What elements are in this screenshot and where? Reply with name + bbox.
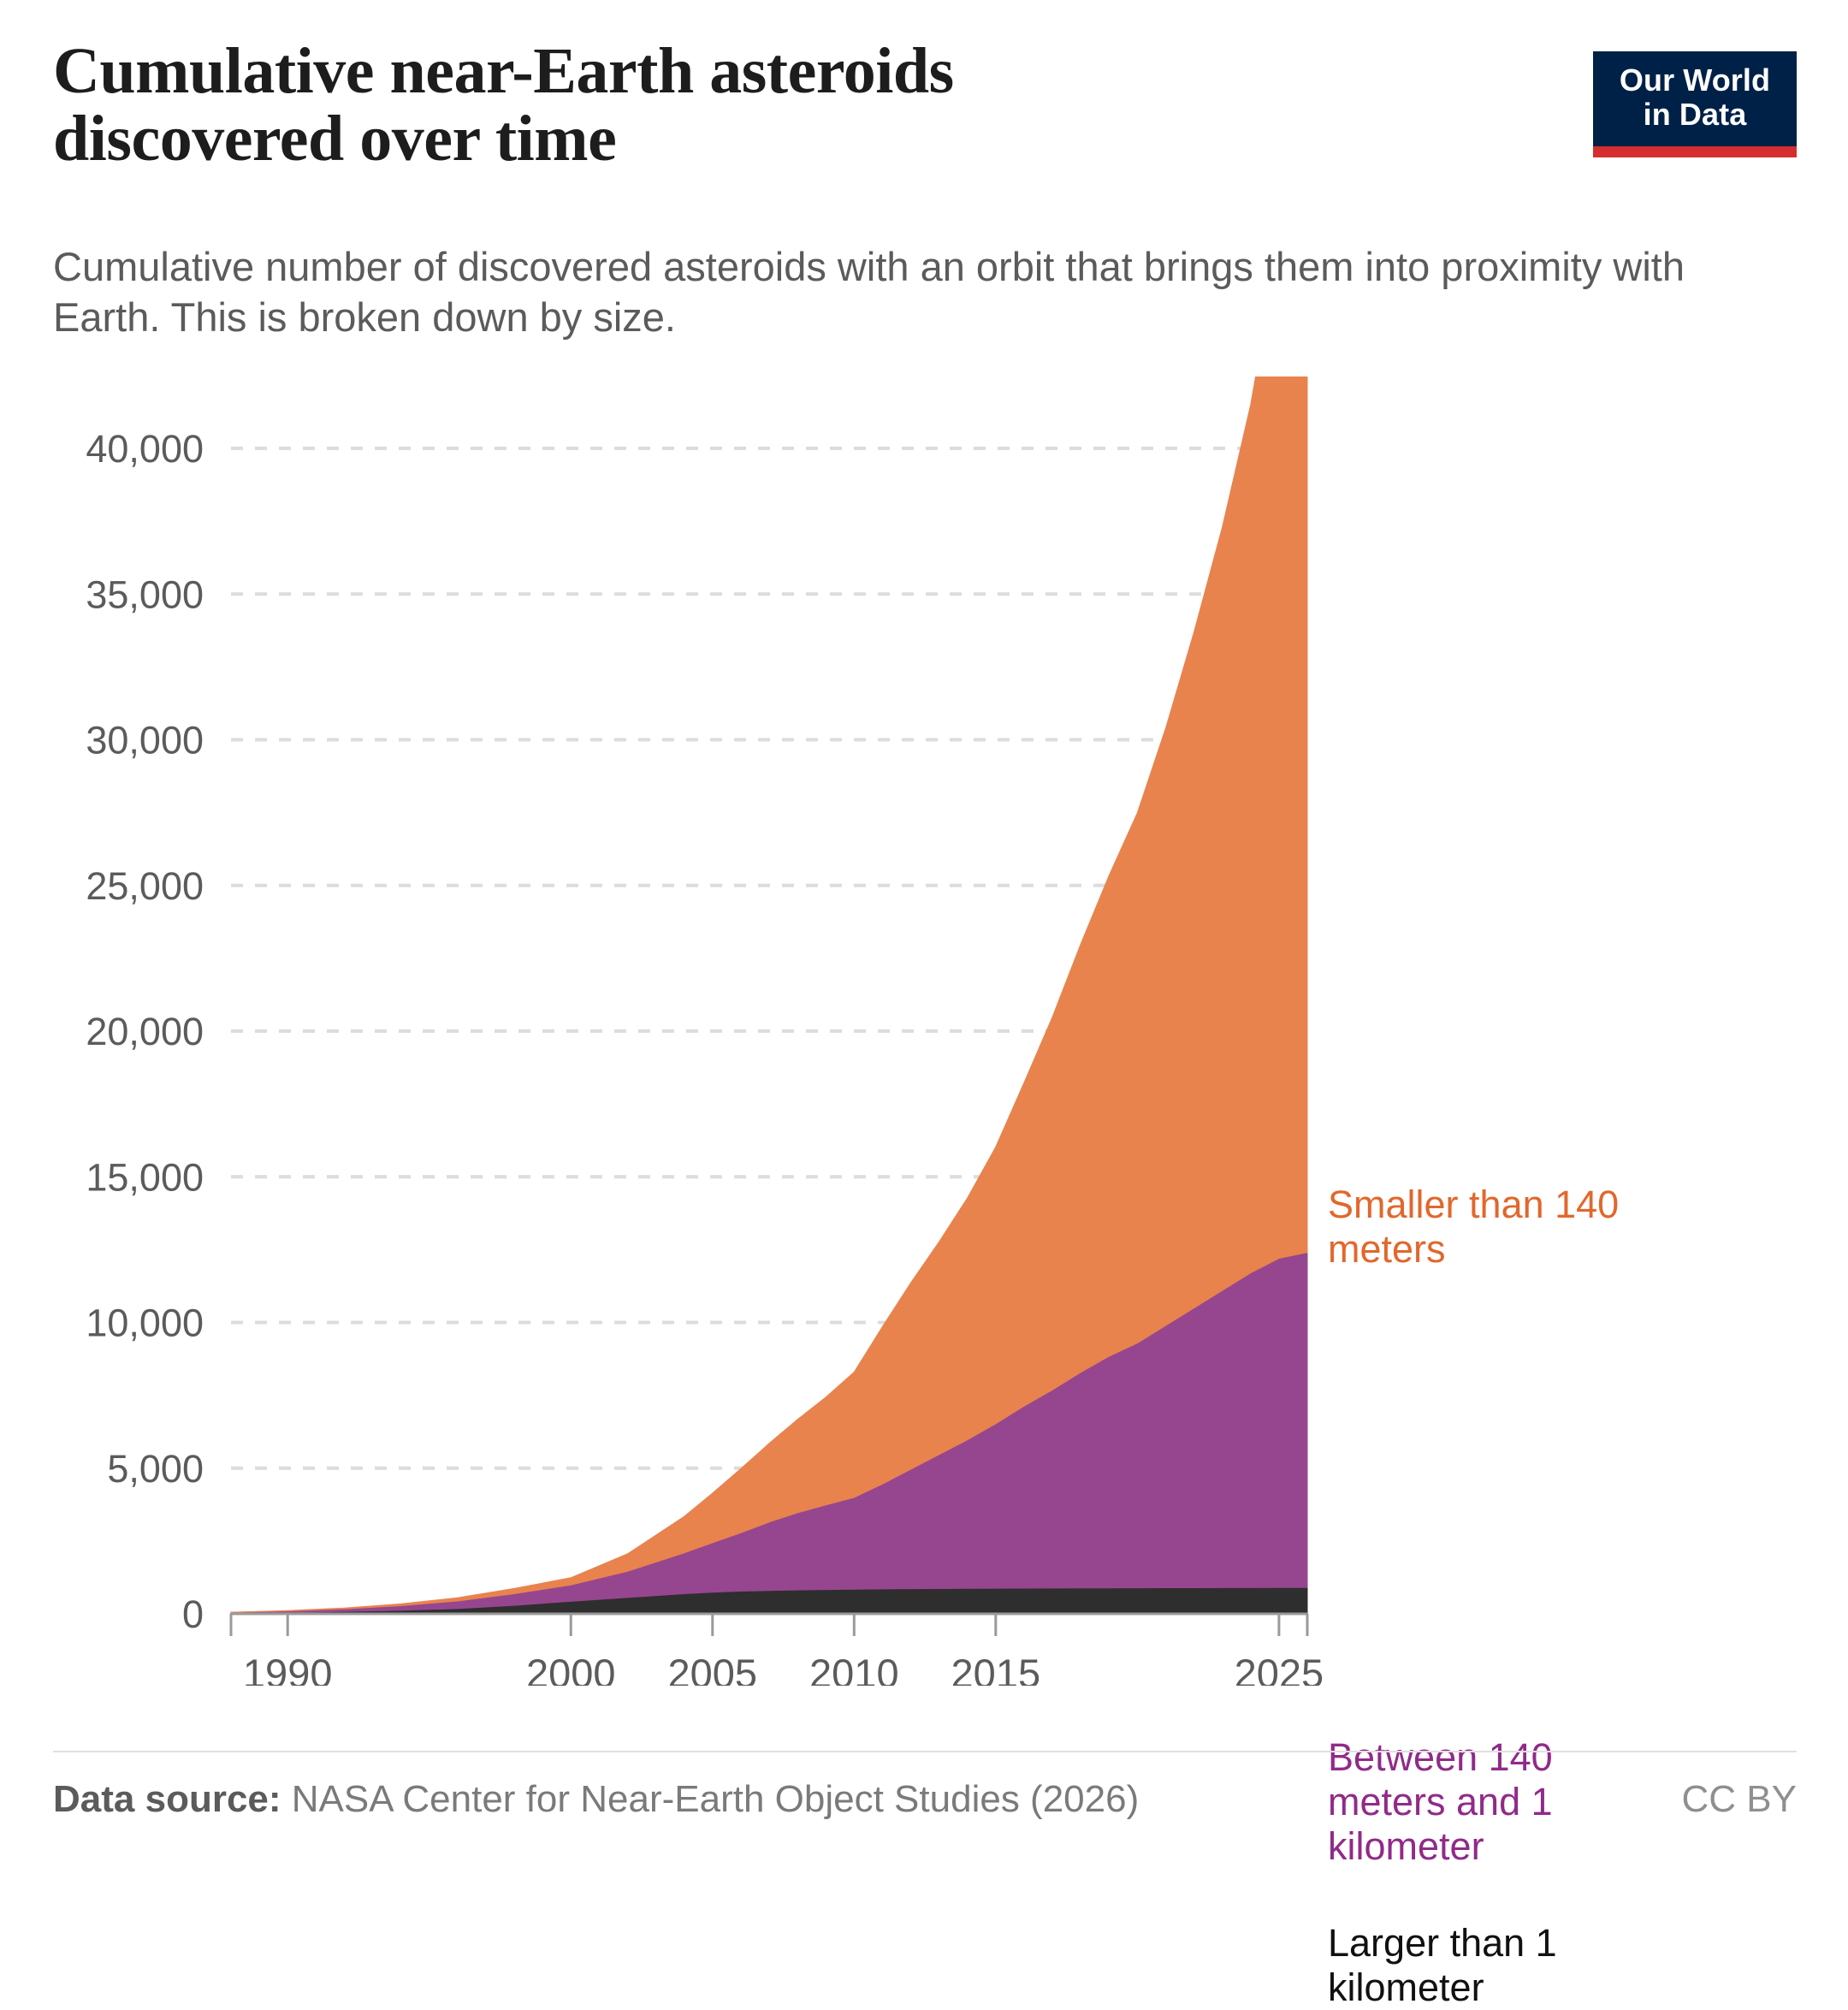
y-tick-label: 0	[182, 1592, 204, 1636]
y-tick-labels: 05,00010,00015,00020,00025,00030,00035,0…	[86, 427, 204, 1636]
y-tick-label: 15,000	[86, 1155, 204, 1199]
x-tick-label: 1990	[243, 1651, 333, 1686]
y-tick-label: 25,000	[86, 864, 204, 908]
series-label-smaller-than-140-meters[interactable]: Smaller than 140 meters	[1328, 1183, 1670, 1272]
x-tick-label: 2025	[1235, 1651, 1324, 1686]
axis-group	[231, 1614, 1307, 1636]
chart-header: Cumulative near-Earth asteroids discover…	[53, 38, 1797, 234]
license-label[interactable]: CC BY	[1682, 1778, 1797, 1821]
x-tick-label: 2005	[668, 1651, 758, 1686]
area-series-group	[231, 377, 1307, 1614]
data-source: Data source: NASA Center for Near-Earth …	[53, 1778, 1139, 1821]
x-tick-label: 2015	[951, 1651, 1041, 1686]
y-tick-label: 20,000	[86, 1010, 204, 1053]
data-source-text: NASA Center for Near-Earth Object Studie…	[292, 1778, 1139, 1820]
page-title: Cumulative near-Earth asteroids discover…	[53, 38, 1217, 173]
data-source-prefix: Data source:	[53, 1778, 281, 1820]
x-tick-label: 2000	[526, 1651, 616, 1686]
owid-logo-line2: in Data	[1602, 98, 1788, 132]
y-tick-label: 10,000	[86, 1301, 204, 1345]
y-tick-label: 35,000	[86, 572, 204, 616]
owid-logo[interactable]: Our World in Data	[1593, 51, 1797, 157]
owid-logo-line1: Our World	[1602, 63, 1788, 98]
x-tick-labels: 199020002005201020152025	[243, 1651, 1324, 1686]
owid-logo-rule	[1593, 146, 1797, 157]
y-tick-label: 30,000	[86, 719, 204, 762]
x-tick-label: 2010	[809, 1651, 899, 1686]
y-tick-label: 5,000	[107, 1447, 204, 1491]
chart-page: Cumulative near-Earth asteroids discover…	[0, 0, 1848, 1848]
owid-logo-box: Our World in Data	[1593, 51, 1797, 146]
series-label-larger-than-1-kilometer[interactable]: Larger than 1 kilometer	[1328, 1921, 1670, 2010]
chart-area: 05,00010,00015,00020,00025,00030,00035,0…	[0, 377, 1848, 1686]
y-tick-label: 40,000	[86, 427, 204, 471]
stacked-area-chart: 05,00010,00015,00020,00025,00030,00035,0…	[0, 377, 1848, 1686]
page-subtitle: Cumulative number of discovered asteroid…	[53, 241, 1713, 342]
chart-footer: Data source: NASA Center for Near-Earth …	[53, 1751, 1797, 1855]
